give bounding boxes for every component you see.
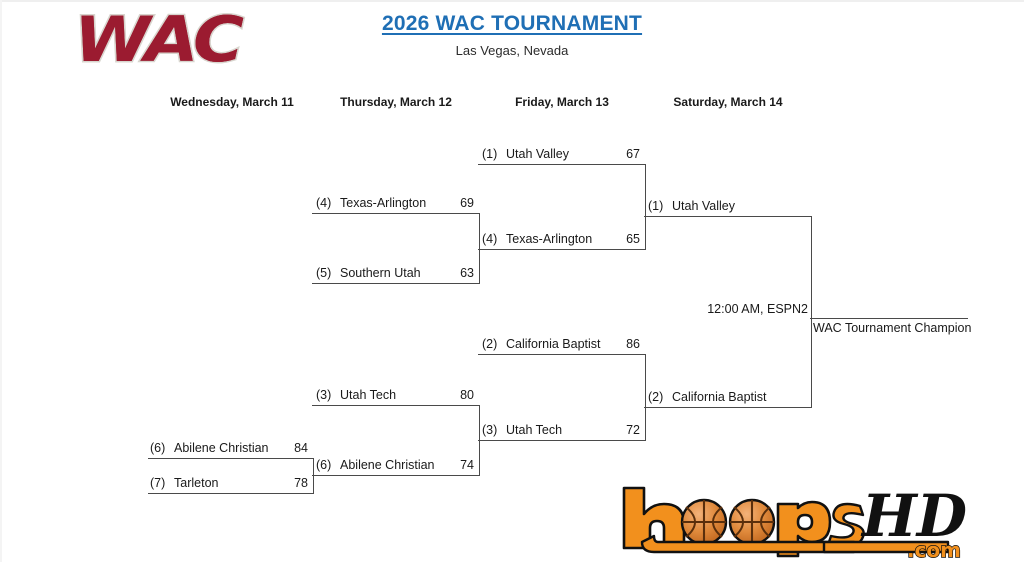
slot-r3-texas-arlington: (4)Texas-Arlington 65 <box>482 232 644 248</box>
slot-r2-southern-utah: (5)Southern Utah 63 <box>316 266 478 282</box>
slot-r2-texas-arlington: (4)Texas-Arlington 69 <box>316 196 478 212</box>
slot-r1-abilene-christian: (6)Abilene Christian 84 <box>150 441 312 457</box>
seed-r1-0: (6) <box>150 441 174 455</box>
seed-r4-0: (1) <box>648 199 672 213</box>
seed-r4-1: (2) <box>648 390 672 404</box>
seed-r3-0: (1) <box>482 147 506 161</box>
connector-r3-top-to-final4 <box>645 164 646 249</box>
hoopshd-basketball-2 <box>730 500 774 544</box>
hoopshd-logo-svg: HD .com <box>612 484 972 562</box>
score-r2-0: 69 <box>460 196 474 210</box>
team-r2-3: Abilene Christian <box>340 458 435 472</box>
score-r1-1: 78 <box>294 476 308 490</box>
line-r1-slot0 <box>148 458 314 459</box>
page-left-edge <box>0 0 2 562</box>
seed-r2-1: (5) <box>316 266 340 280</box>
slot-r1-tarleton: (7)Tarleton 78 <box>150 476 312 492</box>
team-r1-0: Abilene Christian <box>174 441 269 455</box>
score-r2-3: 74 <box>460 458 474 472</box>
team-r3-2: California Baptist <box>506 337 601 351</box>
seed-r3-2: (2) <box>482 337 506 351</box>
round-header-saturday: Saturday, March 14 <box>644 95 812 109</box>
round-header-friday: Friday, March 13 <box>478 95 646 109</box>
round-header-thursday: Thursday, March 12 <box>312 95 480 109</box>
line-r3-slot0 <box>478 164 646 165</box>
score-r3-2: 86 <box>626 337 640 351</box>
seed-r2-2: (3) <box>316 388 340 402</box>
score-r3-0: 67 <box>626 147 640 161</box>
tournament-location: Las Vegas, Nevada <box>0 43 1024 58</box>
page-title: 2026 WAC TOURNAMENT <box>0 12 1024 36</box>
line-r2-slot1 <box>312 283 480 284</box>
line-champion <box>810 318 968 319</box>
line-r1-slot1 <box>148 493 314 494</box>
line-r3-slot3 <box>478 440 646 441</box>
connector-final-championship <box>811 216 812 407</box>
team-r2-0: Texas-Arlington <box>340 196 426 210</box>
line-r2-slot0 <box>312 213 480 214</box>
line-r2-slot3 <box>312 475 480 476</box>
line-r4-slot0 <box>644 216 812 217</box>
page-top-edge <box>0 0 1024 2</box>
score-r2-1: 63 <box>460 266 474 280</box>
score-r1-0: 84 <box>294 441 308 455</box>
score-r3-1: 65 <box>626 232 640 246</box>
hoopshd-domain-text: .com <box>907 538 961 562</box>
connector-r2-top-to-r3 <box>479 213 480 283</box>
connector-r3-bottom-to-final4 <box>645 354 646 440</box>
team-r1-1: Tarleton <box>174 476 218 490</box>
round-header-wednesday: Wednesday, March 11 <box>148 95 316 109</box>
seed-r3-3: (3) <box>482 423 506 437</box>
line-r3-slot2 <box>478 354 646 355</box>
bracket-page: WAC WAC 2026 WAC TOURNAMENT Las Vegas, N… <box>0 0 1024 562</box>
team-r3-1: Texas-Arlington <box>506 232 592 246</box>
slot-r3-utah-tech: (3)Utah Tech 72 <box>482 423 644 439</box>
score-r3-3: 72 <box>626 423 640 437</box>
line-r3-slot1 <box>478 249 646 250</box>
line-r4-slot1 <box>644 407 812 408</box>
team-r2-2: Utah Tech <box>340 388 396 402</box>
slot-r2-utah-tech: (3)Utah Tech 80 <box>316 388 478 404</box>
seed-r1-1: (7) <box>150 476 174 490</box>
champion-label: WAC Tournament Champion <box>813 321 971 335</box>
hoopshd-watermark-logo: HD .com <box>612 484 972 562</box>
slot-r4-utah-valley: (1)Utah Valley <box>648 199 810 215</box>
team-r3-3: Utah Tech <box>506 423 562 437</box>
line-r2-slot2 <box>312 405 480 406</box>
seed-r3-1: (4) <box>482 232 506 246</box>
slot-r3-california-baptist: (2)California Baptist 86 <box>482 337 644 353</box>
slot-r2-abilene-christian: (6)Abilene Christian 74 <box>316 458 478 474</box>
slot-r3-utah-valley: (1)Utah Valley 67 <box>482 147 644 163</box>
team-r4-1: California Baptist <box>672 390 767 404</box>
hoopshd-basketball-1 <box>682 500 726 544</box>
team-r3-0: Utah Valley <box>506 147 569 161</box>
score-r2-2: 80 <box>460 388 474 402</box>
slot-r4-california-baptist: (2)California Baptist <box>648 390 810 406</box>
team-r2-1: Southern Utah <box>340 266 421 280</box>
seed-r2-0: (4) <box>316 196 340 210</box>
championship-game-info: 12:00 AM, ESPN2 <box>612 302 808 316</box>
team-r4-0: Utah Valley <box>672 199 735 213</box>
seed-r2-3: (6) <box>316 458 340 472</box>
